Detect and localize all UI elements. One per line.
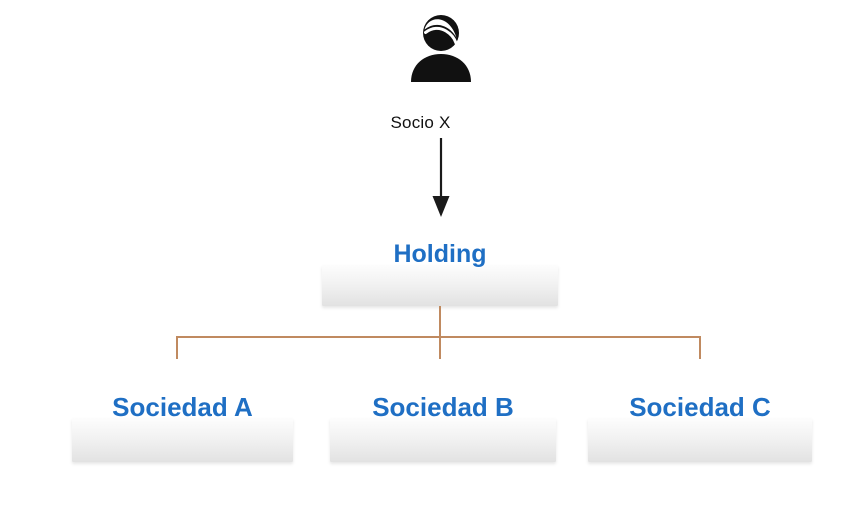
sociedad-b-box[interactable] bbox=[330, 418, 556, 462]
sociedad-a-box[interactable] bbox=[72, 418, 293, 462]
connector-drop-sociedad-c bbox=[699, 336, 701, 359]
sociedad-b-label: Sociedad B bbox=[320, 392, 566, 423]
connector-drop-sociedad-a bbox=[176, 336, 178, 359]
down-arrow-icon bbox=[425, 138, 457, 218]
diagram-canvas: Socio X Holding Sociedad A Sociedad B So… bbox=[0, 0, 841, 508]
sociedad-c-label: Sociedad C bbox=[578, 392, 822, 423]
connector-stem bbox=[439, 306, 441, 337]
person-icon bbox=[405, 12, 477, 84]
holding-label: Holding bbox=[322, 240, 558, 269]
owner-label: Socio X bbox=[0, 113, 841, 133]
sociedad-a-label: Sociedad A bbox=[62, 392, 303, 423]
sociedad-c-box[interactable] bbox=[588, 418, 812, 462]
connector-drop-sociedad-b bbox=[439, 336, 441, 359]
holding-box[interactable] bbox=[322, 265, 558, 306]
